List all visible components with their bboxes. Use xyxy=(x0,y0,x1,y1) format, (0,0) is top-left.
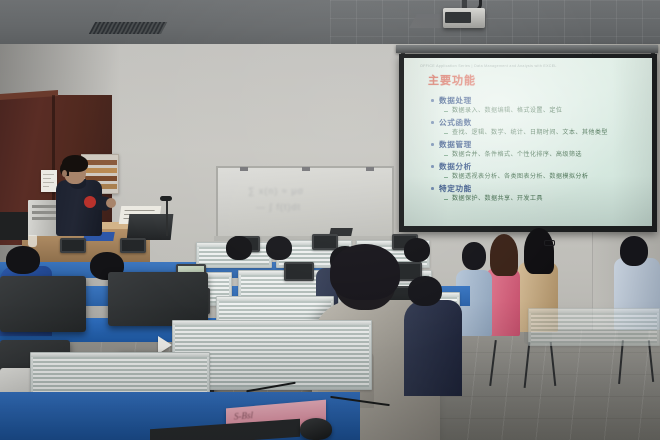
whiteboard: ∑ x(n) ≈ μσ — ∫ f(t)dt xyxy=(216,166,394,238)
cup xyxy=(28,235,37,247)
slide-section-heading-text: 数据分析 xyxy=(439,162,472,171)
slide-section-detail: 数据合并、条件格式、个性化排序、高级筛选 xyxy=(430,150,644,160)
monitor-foreground xyxy=(0,276,86,332)
attendee-foreground-grey-hair xyxy=(330,244,400,300)
microphone-head-icon xyxy=(160,196,172,201)
slide-section-detail-text: 数据保护、数据共享、开发工具 xyxy=(452,195,543,202)
bullet-dot-icon xyxy=(431,165,434,168)
slide-section-heading-text: 数据处理 xyxy=(439,96,472,105)
attendee-light-blue-head xyxy=(462,242,486,270)
projection-screen: OFFICE Application Series | Data Managem… xyxy=(404,58,652,226)
slide-body: 数据处理 数据录入、数据编辑、格式设置、定位 公式函数 查找、逻辑、数学、统计、 xyxy=(430,95,644,204)
attendee-navy-fg-head xyxy=(408,276,442,306)
posted-notice xyxy=(41,170,57,192)
slide-section-heading-text: 数据管理 xyxy=(439,140,472,149)
monitor xyxy=(312,234,338,250)
slide-section-detail-text: 数据合并、条件格式、个性化排序、高级筛选 xyxy=(452,151,582,158)
monitor xyxy=(284,262,314,281)
projector-lens-icon xyxy=(445,12,471,23)
bullet-dot-icon xyxy=(431,121,434,124)
slide-section-heading-text: 特定功能 xyxy=(439,184,472,193)
dash-bullet-icon xyxy=(444,111,448,112)
gooseneck-microphone xyxy=(166,200,168,236)
attendee-back-1-head xyxy=(226,236,252,260)
slide-section: 数据管理 数据合并、条件格式、个性化排序、高级筛选 xyxy=(430,139,644,160)
slide-section-detail-text: 查找、逻辑、数学、统计、日期时间、文本、其他类型 xyxy=(452,129,608,136)
slide-section-detail: 查找、逻辑、数学、统计、日期时间、文本、其他类型 xyxy=(430,128,644,138)
monitor xyxy=(60,238,86,253)
monitor xyxy=(120,238,146,253)
slide-header: OFFICE Application Series | Data Managem… xyxy=(420,64,644,68)
slide-section-heading: 数据管理 xyxy=(430,139,644,150)
slide-content: OFFICE Application Series | Data Managem… xyxy=(404,58,652,226)
slide-section-heading-text: 公式函数 xyxy=(439,118,472,127)
slide-section: 数据分析 数据透视表分析、各类图表分析、数据模拟分析 xyxy=(430,161,644,182)
attendee-right-shirt-head xyxy=(620,236,648,266)
slide-section-detail: 数据透视表分析、各类图表分析、数据模拟分析 xyxy=(430,172,644,182)
bullet-dot-icon xyxy=(431,99,434,102)
attendee-pink-hair xyxy=(490,234,518,276)
slide-section-detail: 数据保护、数据共享、开发工具 xyxy=(430,194,644,204)
desk-partition-right xyxy=(528,308,660,346)
slide-section: 特定功能 数据保护、数据共享、开发工具 xyxy=(430,183,644,204)
slide-section-detail: 数据录入、数据编辑、格式设置、定位 xyxy=(430,106,644,116)
whiteboard-writing: — ∫ f(t)dt xyxy=(256,202,301,212)
bullet-dot-icon xyxy=(431,187,434,190)
presenter-shirt-logo xyxy=(84,196,96,208)
equipment-box xyxy=(0,212,28,240)
dash-bullet-icon xyxy=(444,155,448,156)
slide-section-heading: 公式函数 xyxy=(430,117,644,128)
bullet-dot-icon xyxy=(431,143,434,146)
slide-section: 公式函数 查找、逻辑、数学、统计、日期时间、文本、其他类型 xyxy=(430,117,644,138)
slide-section-detail-text: 数据录入、数据编辑、格式设置、定位 xyxy=(452,107,562,114)
slide-section-heading: 数据分析 xyxy=(430,161,644,172)
eyeglasses-icon xyxy=(544,240,555,246)
attendee-back-3-head xyxy=(404,238,430,262)
slide-title: 主要功能 xyxy=(428,72,644,88)
ceiling-vent-icon xyxy=(89,22,167,34)
projector-icon xyxy=(443,8,485,28)
screen-housing xyxy=(396,45,658,53)
slide-section-heading: 数据处理 xyxy=(430,95,644,106)
slide-section-detail-text: 数据透视表分析、各类图表分析、数据模拟分析 xyxy=(452,173,588,180)
whiteboard-writing: ∑ x(n) ≈ μσ xyxy=(248,186,304,196)
attendee-tan-coat-hair xyxy=(524,228,554,274)
attendee-navy-fg-torso xyxy=(404,300,462,396)
presenter-hand xyxy=(106,198,116,208)
pink-desk-label-text: S-Bsl xyxy=(234,410,253,422)
attendee-blue-jacket-head xyxy=(6,246,40,274)
monitor-foreground xyxy=(108,272,208,326)
slide-section-heading: 特定功能 xyxy=(430,183,644,194)
dash-bullet-icon xyxy=(444,177,448,178)
computer-mouse[interactable] xyxy=(300,418,332,440)
presenter-ear xyxy=(62,170,67,177)
slide-section: 数据处理 数据录入、数据编辑、格式设置、定位 xyxy=(430,95,644,116)
photo-scene: OFFICE Application Series | Data Managem… xyxy=(0,0,660,440)
dash-bullet-icon xyxy=(444,199,448,200)
dash-bullet-icon xyxy=(444,133,448,134)
attendee-back-2-head xyxy=(266,236,292,260)
